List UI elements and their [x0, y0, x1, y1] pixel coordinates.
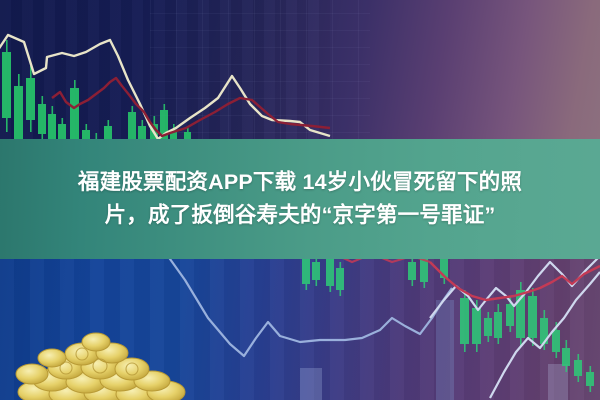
title-banner: 福建股票配资APP下载 14岁小伙冒死留下的照 片，成了扳倒谷寿夫的“京字第一号… — [0, 139, 600, 259]
gold-coin-pile — [8, 330, 208, 400]
title-line-2: 片，成了扳倒谷寿夫的“京字第一号罪证” — [105, 199, 496, 232]
title-line-1: 福建股票配资APP下载 14岁小伙冒死留下的照 — [78, 166, 522, 199]
red-line-bottom — [430, 262, 600, 300]
stock-news-banner-image: 福建股票配资APP下载 14岁小伙冒死留下的照 片，成了扳倒谷寿夫的“京字第一号… — [0, 0, 600, 400]
